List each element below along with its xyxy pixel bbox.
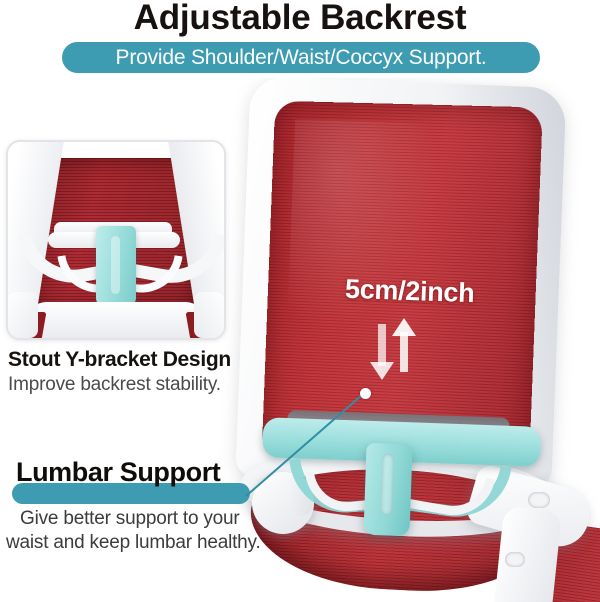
page-title: Adjustable Backrest — [0, 0, 600, 38]
caption-y-bracket-title: Stout Y-bracket Design — [8, 348, 308, 372]
arrow-up-icon — [392, 318, 416, 336]
hotspot-dot-icon — [360, 388, 371, 399]
caption-lumbar-line-2: waist and keep lumbar healthy. — [6, 532, 326, 554]
inset-panel-y-bracket — [6, 140, 226, 340]
caption-lumbar-title: Lumbar Support — [16, 457, 336, 488]
arrow-up-stem — [400, 332, 408, 372]
subtitle-banner-text: Provide Shoulder/Waist/Coccyx Support. — [116, 42, 487, 73]
caption-lumbar-line-1: Give better support to your — [20, 508, 320, 530]
inset-foot-right — [194, 292, 224, 338]
adjust-range-arrows — [372, 318, 428, 396]
inset-bracket-stem — [96, 226, 136, 306]
arrow-down-icon — [370, 362, 394, 380]
caption-y-bracket-subtitle: Improve backrest stability. — [8, 374, 328, 396]
arrow-down-stem — [378, 324, 386, 366]
lumbar-stem-groove — [380, 453, 394, 515]
subtitle-banner: Provide Shoulder/Waist/Coccyx Support. — [62, 42, 540, 73]
infographic-root: Adjustable Backrest Provide Shoulder/Wai… — [0, 0, 600, 602]
lumbar-stem — [363, 443, 412, 537]
armrest-button-lower — [505, 552, 525, 567]
inset-foot-left — [8, 292, 38, 338]
armrest-post — [492, 505, 562, 602]
inset-base — [28, 302, 204, 340]
measurement-label: 5cm/2inch — [344, 274, 474, 309]
inset-bracket-stem-groove — [111, 236, 120, 294]
